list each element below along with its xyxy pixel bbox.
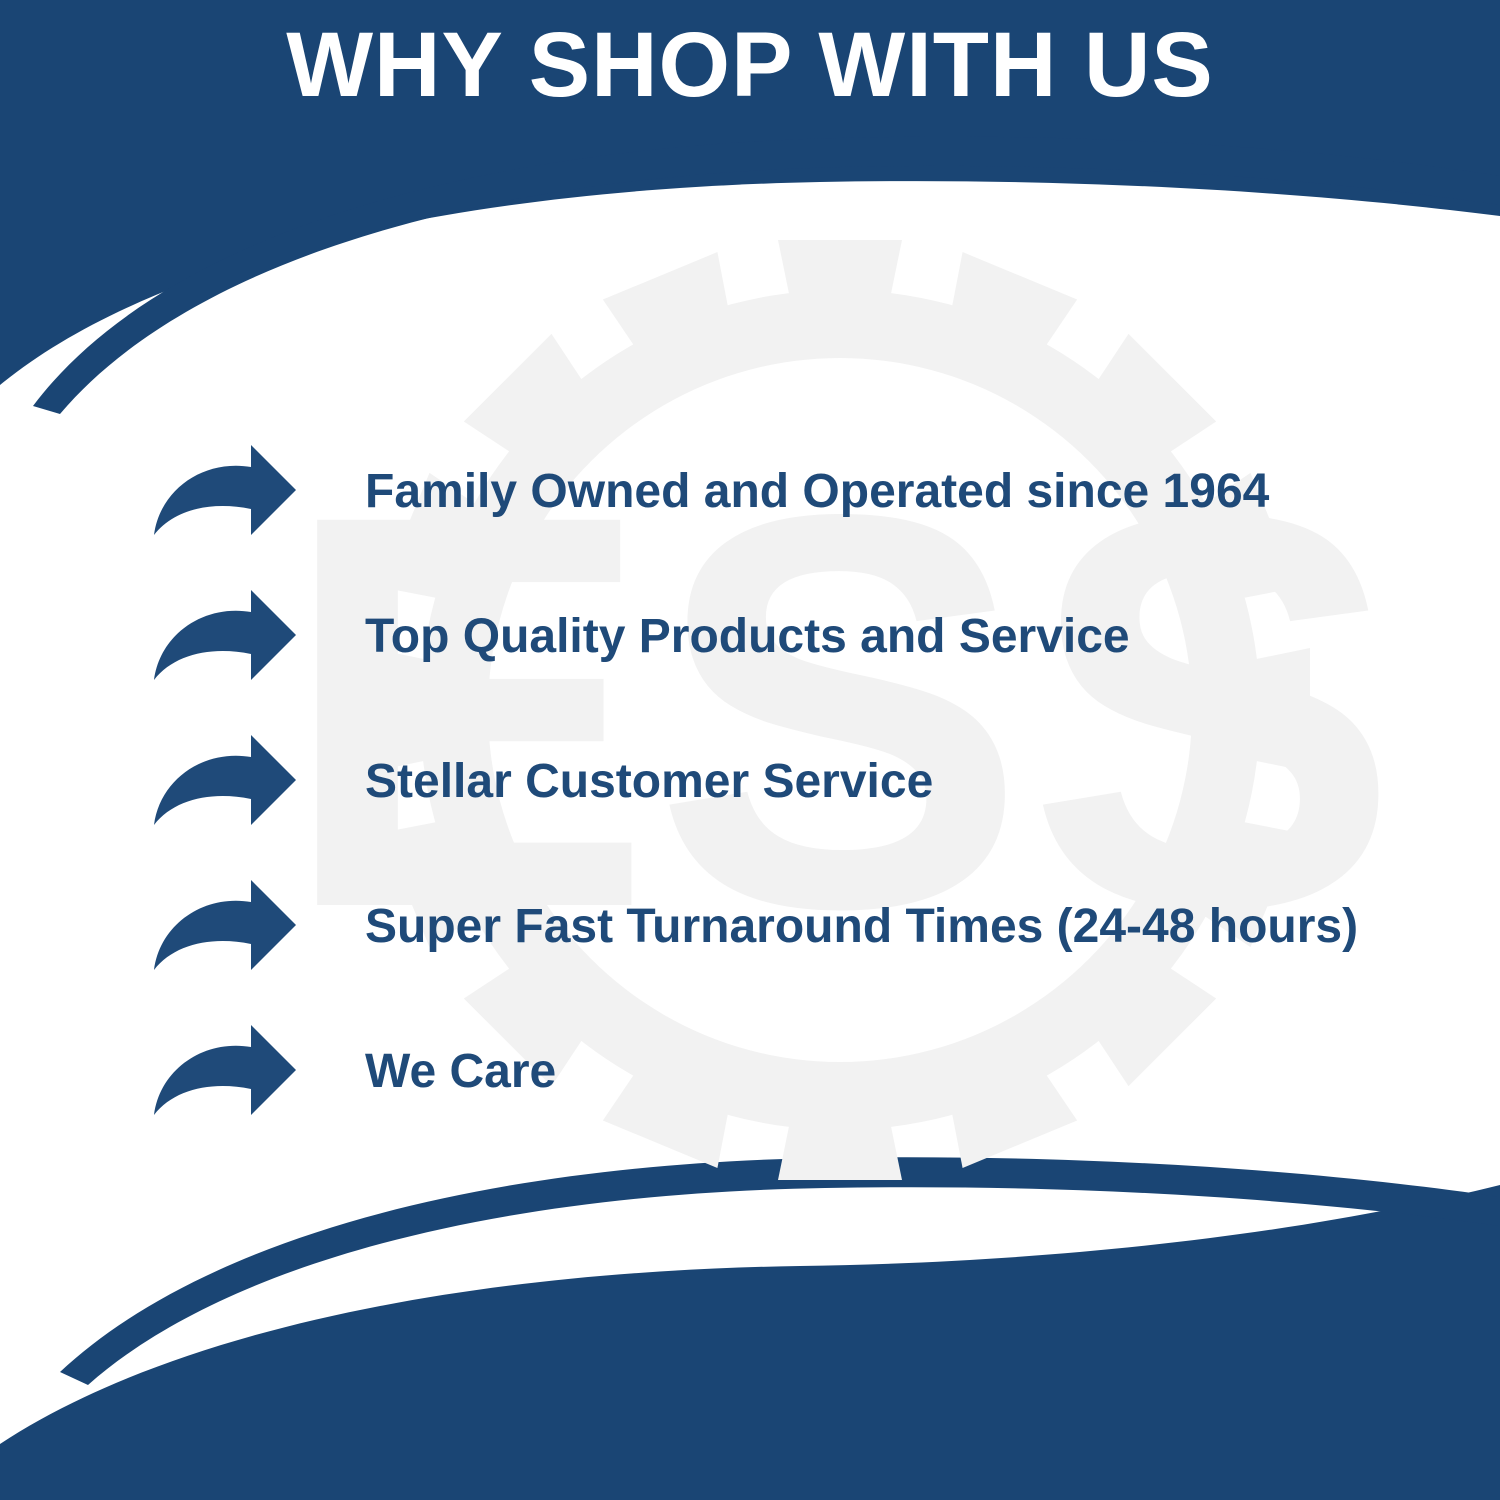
benefit-label: Super Fast Turnaround Times (24-48 hours… — [365, 902, 1358, 952]
curved-arrow-right-icon — [150, 443, 300, 543]
curved-arrow-right-icon — [150, 733, 300, 833]
list-item: Top Quality Products and Service — [0, 565, 1500, 710]
why-shop-with-us-poster: ESS WHY SHOP WITH US Family Owned and Op… — [0, 0, 1500, 1500]
curved-arrow-right-icon — [150, 878, 300, 978]
benefit-label: Top Quality Products and Service — [365, 612, 1130, 662]
list-item: We Care — [0, 1000, 1500, 1145]
curved-arrow-right-icon — [150, 588, 300, 688]
list-item: Family Owned and Operated since 1964 — [0, 420, 1500, 565]
curved-arrow-right-icon — [150, 1023, 300, 1123]
benefit-label: We Care — [365, 1047, 556, 1097]
benefit-label: Stellar Customer Service — [365, 757, 933, 807]
list-item: Stellar Customer Service — [0, 710, 1500, 855]
benefit-label: Family Owned and Operated since 1964 — [365, 467, 1269, 517]
list-item: Super Fast Turnaround Times (24-48 hours… — [0, 855, 1500, 1000]
benefits-list: Family Owned and Operated since 1964 Top… — [0, 420, 1500, 1145]
